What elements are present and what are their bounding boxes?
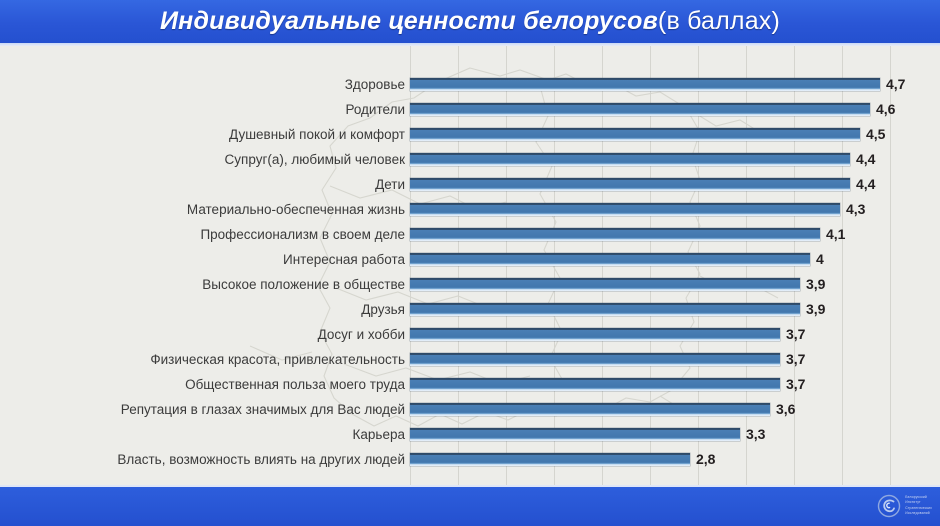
chart-area: Здоровье4,7Родители4,6Душевный покой и к…	[0, 46, 940, 485]
value-label: 3,9	[806, 272, 825, 297]
value-label: 3,6	[776, 397, 795, 422]
category-label: Карьера	[353, 422, 405, 447]
bar	[410, 453, 690, 466]
category-label: Друзья	[361, 297, 405, 322]
bar	[410, 403, 770, 416]
value-label: 4,1	[826, 222, 845, 247]
value-label: 4	[816, 247, 824, 272]
chart-row: Материально-обеспеченная жизнь4,3	[0, 197, 940, 222]
chart-row: Физическая красота, привлекательность3,7	[0, 347, 940, 372]
category-label: Досуг и хобби	[318, 322, 405, 347]
category-label: Профессионализм в своем деле	[200, 222, 405, 247]
category-label: Высокое положение в обществе	[202, 272, 405, 297]
value-label: 4,4	[856, 147, 875, 172]
bar	[410, 128, 860, 141]
chart-row: Досуг и хобби3,7	[0, 322, 940, 347]
chart-row: Власть, возможность влиять на других люд…	[0, 447, 940, 472]
category-label: Общественная польза моего труда	[185, 372, 405, 397]
category-label: Интересная работа	[283, 247, 405, 272]
bar	[410, 178, 850, 191]
value-label: 3,7	[786, 322, 805, 347]
bar	[410, 378, 780, 391]
bar	[410, 203, 840, 216]
value-label: 3,9	[806, 297, 825, 322]
value-label: 4,4	[856, 172, 875, 197]
value-label: 2,8	[696, 447, 715, 472]
bar-chart-plot: Здоровье4,7Родители4,6Душевный покой и к…	[0, 46, 940, 485]
chart-row: Душевный покой и комфорт4,5	[0, 122, 940, 147]
category-label: Физическая красота, привлекательность	[150, 347, 405, 372]
footer-divider	[0, 485, 940, 487]
value-label: 4,5	[866, 122, 885, 147]
organization-name-line: Исследований	[905, 511, 932, 516]
institute-emblem-icon	[877, 494, 901, 518]
chart-row: Родители4,6	[0, 97, 940, 122]
chart-row: Супруг(а), любимый человек4,4	[0, 147, 940, 172]
bar	[410, 278, 800, 291]
category-label: Душевный покой и комфорт	[229, 122, 405, 147]
bar	[410, 328, 780, 341]
page-title: Индивидуальные ценности белорусов(в балл…	[160, 9, 780, 34]
page-title-main: Индивидуальные ценности белорусов	[160, 7, 658, 35]
bar	[410, 78, 880, 91]
value-label: 3,7	[786, 372, 805, 397]
page-title-sub: (в баллах)	[658, 7, 780, 35]
title-bar: Индивидуальные ценности белорусов(в балл…	[0, 0, 940, 43]
category-label: Супруг(а), любимый человек	[225, 147, 405, 172]
chart-row: Общественная польза моего труда3,7	[0, 372, 940, 397]
category-label: Материально-обеспеченная жизнь	[187, 197, 405, 222]
value-label: 3,7	[786, 347, 805, 372]
category-label: Родители	[345, 97, 405, 122]
value-label: 3,3	[746, 422, 765, 447]
category-label: Власть, возможность влиять на других люд…	[117, 447, 405, 472]
organization-name: БелорусскийИнститутСтратегическихИсследо…	[905, 495, 932, 516]
organization-logo[interactable]: БелорусскийИнститутСтратегическихИсследо…	[877, 492, 932, 519]
bar	[410, 228, 820, 241]
category-label: Здоровье	[345, 72, 405, 97]
chart-row: Высокое положение в обществе3,9	[0, 272, 940, 297]
chart-row: Дети4,4	[0, 172, 940, 197]
bar	[410, 428, 740, 441]
value-label: 4,3	[846, 197, 865, 222]
chart-row: Репутация в глазах значимых для Вас люде…	[0, 397, 940, 422]
bar	[410, 103, 870, 116]
bar	[410, 153, 850, 166]
value-label: 4,7	[886, 72, 905, 97]
value-label: 4,6	[876, 97, 895, 122]
bar	[410, 253, 810, 266]
bar	[410, 303, 800, 316]
chart-row: Интересная работа4	[0, 247, 940, 272]
footer-bar: БелорусскийИнститутСтратегическихИсследо…	[0, 485, 940, 526]
bar	[410, 353, 780, 366]
category-label: Дети	[375, 172, 405, 197]
chart-row: Профессионализм в своем деле4,1	[0, 222, 940, 247]
chart-row: Здоровье4,7	[0, 72, 940, 97]
chart-row: Друзья3,9	[0, 297, 940, 322]
category-label: Репутация в глазах значимых для Вас люде…	[121, 397, 405, 422]
chart-row: Карьера3,3	[0, 422, 940, 447]
